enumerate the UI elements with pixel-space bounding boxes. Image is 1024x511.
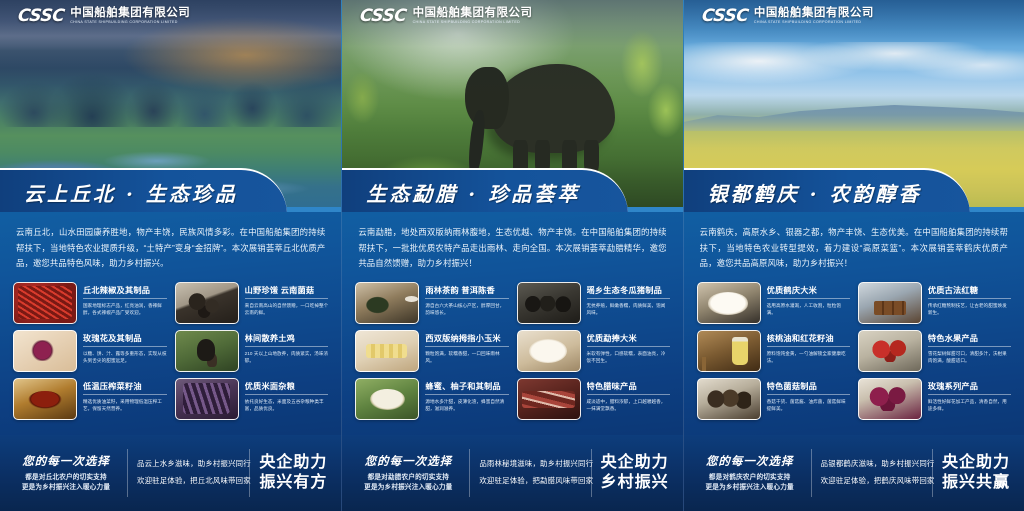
product-title: 林间散养土鸡 xyxy=(245,332,329,348)
card-grid-qiubei: 丘北辣椒及其制品 国家地理标志产品，红亮油润，香辣鲜醇，各式辣椒产品广受欢迎。 … xyxy=(0,280,341,420)
cssc-logo-text: 中国船舶集团有限公司 CHINA STATE SHIPBUILDING CORP… xyxy=(413,8,533,24)
banner-qiubei: 云上丘北 · 生态珍品 xyxy=(0,168,287,212)
footer-sub-line-2: 更是为乡村振兴注入暖心力量 xyxy=(698,483,802,493)
card-body: 西双版纳拇指小玉米 颗粒饱满，软糯香甜，一口回味雨林风。 xyxy=(425,330,508,365)
rose-image xyxy=(13,330,77,372)
card-body: 特色水果产品 雪花梨树鲜甜可口，清甜多汁，沃柑果肉饱满，酸甜适口。 xyxy=(928,330,1011,365)
puer-tea-image xyxy=(355,282,419,324)
cssc-logo: CSSC 中国船舶集团有限公司 CHINA STATE SHIPBUILDING… xyxy=(702,8,874,25)
card-row: 丘北辣椒及其制品 国家地理标志产品，红亮油润，香辣鲜醇，各式辣椒产品广受欢迎。 … xyxy=(13,282,328,324)
product-desc: 米软有弹性，口感软糯，表面油亮，冷饭不回生。 xyxy=(587,350,670,365)
product-card[interactable]: 优质古法红糖 传承红糖熬制技艺，让古老的甜蜜焕发新生。 xyxy=(858,282,1011,324)
mushroom-image xyxy=(175,282,239,324)
fruit-image xyxy=(858,330,922,372)
product-title: 特色菌菇制品 xyxy=(767,380,850,396)
product-title: 特色水果产品 xyxy=(928,332,1011,348)
product-desc: 原料饱饨金黄，一勺油解锁全家健康吃法。 xyxy=(767,350,850,365)
card-body: 优质古法红糖 传承红糖熬制技艺，让古老的甜蜜焕发新生。 xyxy=(928,282,1011,317)
card-body: 优质鹤庆大米 选用高原水灌溉，人工收割，粒粒饱满。 xyxy=(767,282,850,317)
card-body: 瑶乡生态冬瓜猪制品 无抗养殖，鲜嫩香糯，肉质鲜美，饱闻风味。 xyxy=(587,282,670,317)
hero-heqing: CSSC 中国船舶集团有限公司 CHINA STATE SHIPBUILDING… xyxy=(684,0,1024,212)
product-title: 优质古法红糖 xyxy=(928,284,1011,300)
card-body: 玫瑰系列产品 鲜活性好鲜花加工产品，清香自然，用途多样。 xyxy=(928,378,1011,413)
card-body: 低温压榨菜籽油 精选优质油菜籽，采用物理低温压榨工艺，保留天然营养。 xyxy=(83,378,167,413)
product-card[interactable]: 优质鹤庆大米 选用高原水灌溉，人工收割，粒粒饱满。 xyxy=(697,282,850,324)
product-card[interactable]: 雨林茶韵 普洱陈香 源自古六大茶山核心产区，醇厚回甘，韵味悠长。 xyxy=(355,282,508,324)
hero-mengla: CSSC 中国船舶集团有限公司 CHINA STATE SHIPBUILDING… xyxy=(342,0,682,212)
footer-line-1: 品银都鹤庆滋味，助乡村振兴同行 xyxy=(821,456,923,473)
footer-sub-line-1: 都是对勐腊农户的切实支持 xyxy=(356,473,460,483)
card-body: 特色腊味产品 咸淡适中，腊料浓郁，上口越嚼越香，一抹满堂飘香。 xyxy=(587,378,670,413)
card-body: 优质米面杂粮 依托良好生态，米面及五谷杂粮种类丰富，品质优良。 xyxy=(245,378,329,413)
footer-script-text: 您的每一次选择 xyxy=(14,453,118,469)
rice-image xyxy=(517,330,581,372)
product-card[interactable]: 优质勐捧大米 米软有弹性，口感软糯，表面油亮，冷饭不回生。 xyxy=(517,330,670,372)
product-title: 雨林茶韵 普洱陈香 xyxy=(425,284,508,300)
product-card[interactable]: 玫瑰花及其制品 以糖、饼、汁、露等多重形态，实现从枝头到舌尖的甜蜜远足。 xyxy=(13,330,167,372)
product-desc: 雪花梨树鲜甜可口，清甜多汁，沃柑果肉饱满，酸甜适口。 xyxy=(928,350,1011,365)
walnut-oil-image xyxy=(697,330,761,372)
panel-heqing: CSSC 中国船舶集团有限公司 CHINA STATE SHIPBUILDING… xyxy=(683,0,1024,511)
card-row: 西双版纳拇指小玉米 颗粒饱满，软糯香甜，一口回味雨林风。 优质勐捧大米 米软有弹… xyxy=(355,330,669,372)
cssc-logo: CSSC 中国船舶集团有限公司 CHINA STATE SHIPBUILDING… xyxy=(360,8,532,25)
cssc-logo: CSSC 中国船舶集团有限公司 CHINA STATE SHIPBUILDING… xyxy=(18,8,190,25)
footer-pledge: 您的每一次选择 都是对鹤庆农户的切实支持 更是为乡村振兴注入暖心力量 xyxy=(698,453,802,493)
product-card[interactable]: 蜂蜜、柚子和其制品 源地水多汁甜，皮薄化渣，蜂蜜自然清甜，滋润滋养。 xyxy=(355,378,508,420)
heqing-rice-image xyxy=(697,282,761,324)
company-name-cn: 中国船舶集团有限公司 xyxy=(413,8,533,20)
card-grid-mengla: 雨林茶韵 普洱陈香 源自古六大茶山核心产区，醇厚回甘，韵味悠长。 瑶乡生态冬瓜猪… xyxy=(342,280,682,420)
baby-corn-image xyxy=(355,330,419,372)
card-row: 核桃油和红花籽油 原料饱饨金黄，一勺油解锁全家健康吃法。 特色水果产品 雪花梨树… xyxy=(697,330,1011,372)
cssc-logo-text: 中国船舶集团有限公司 CHINA STATE SHIPBUILDING CORP… xyxy=(754,8,874,24)
card-body: 雨林茶韵 普洱陈香 源自古六大茶山核心产区，醇厚回甘，韵味悠长。 xyxy=(425,282,508,317)
banner-heqing: 银都鹤庆 · 农韵醇香 xyxy=(684,168,970,212)
card-body: 林间散养土鸡 210 天以上山地放养，肉质紧实，汤味浓郁。 xyxy=(245,330,329,365)
cssc-wordmark-icon: CSSC xyxy=(359,8,407,25)
product-card[interactable]: 西双版纳拇指小玉米 颗粒饱满，软糯香甜，一口回味雨林风。 xyxy=(355,330,508,372)
product-desc: 无抗养殖，鲜嫩香糯，肉质鲜美，饱闻风味。 xyxy=(587,302,670,317)
product-title: 特色腊味产品 xyxy=(587,380,670,396)
product-card[interactable]: 丘北辣椒及其制品 国家地理标志产品，红亮油润，香辣鲜醇，各式辣椒产品广受欢迎。 xyxy=(13,282,167,324)
cssc-wordmark-icon: CSSC xyxy=(17,8,65,25)
product-desc: 香菇干货、菌菇酱、油炸菌，菌菇鲜味提鲜美。 xyxy=(767,398,850,413)
footer-divider xyxy=(932,449,933,497)
product-title: 蜂蜜、柚子和其制品 xyxy=(425,380,508,396)
card-body: 山野珍馐 云南菌菇 来自云南高山的自然馈赠，一口吃掉整个云南的鲜。 xyxy=(245,282,329,317)
footer-sub-line-1: 都是对丘北农户的切实支持 xyxy=(14,473,118,483)
banner-title: 银都鹤庆 · 农韵醇香 xyxy=(684,178,922,207)
chicken-image xyxy=(175,330,239,372)
product-title: 西双版纳拇指小玉米 xyxy=(425,332,508,348)
product-desc: 源自古六大茶山核心产区，醇厚回甘，韵味悠长。 xyxy=(425,302,508,317)
cssc-wordmark-icon: CSSC xyxy=(701,8,749,25)
footer-script-text: 您的每一次选择 xyxy=(698,453,802,469)
fungus-image xyxy=(697,378,761,420)
card-grid-heqing: 优质鹤庆大米 选用高原水灌溉，人工收割，粒粒饱满。 优质古法红糖 传承红糖熬制技… xyxy=(684,280,1024,420)
product-desc: 咸淡适中，腊料浓郁，上口越嚼越香，一抹满堂飘香。 xyxy=(587,398,670,413)
footer-slogan: 央企助力 乡村振兴 xyxy=(601,453,669,493)
card-body: 核桃油和红花籽油 原料饱饨金黄，一勺油解锁全家健康吃法。 xyxy=(767,330,850,365)
footer-invite: 品银都鹤庆滋味，助乡村振兴同行 欢迎驻足体验，把鹤庆风味带回家 xyxy=(821,456,923,489)
product-title: 核桃油和红花籽油 xyxy=(767,332,850,348)
footer-line-1: 品雨林秘境滋味，助乡村振兴同行 xyxy=(479,456,581,473)
footer-sub-line-1: 都是对鹤庆农户的切实支持 xyxy=(698,473,802,483)
slogan-line-1: 央企助力 xyxy=(942,453,1010,473)
product-desc: 国家地理标志产品，红亮油润，香辣鲜醇，各式辣椒产品广受欢迎。 xyxy=(83,302,167,317)
company-name-en: CHINA STATE SHIPBUILDING CORPORATION LIM… xyxy=(754,21,874,25)
poster-stage: CSSC 中国船舶集团有限公司 CHINA STATE SHIPBUILDING… xyxy=(0,0,1024,511)
card-row: 特色菌菇制品 香菇干货、菌菇酱、油炸菌，菌菇鲜味提鲜美。 玫瑰系列产品 鲜活性好… xyxy=(697,378,1011,420)
product-desc: 以糖、饼、汁、露等多重形态，实现从枝头到舌尖的甜蜜远足。 xyxy=(83,350,167,365)
hero-qiubei: CSSC 中国船舶集团有限公司 CHINA STATE SHIPBUILDING… xyxy=(0,0,341,212)
product-card[interactable]: 优质米面杂粮 依托良好生态，米面及五谷杂粮种类丰富，品质优良。 xyxy=(175,378,329,420)
company-name-en: CHINA STATE SHIPBUILDING CORPORATION LIM… xyxy=(70,21,190,25)
footer-mengla: 您的每一次选择 都是对勐腊农户的切实支持 更是为乡村振兴注入暖心力量 品雨林秘境… xyxy=(342,435,682,511)
footer-line-2: 欢迎驻足体验，把勐腊风味带回家 xyxy=(479,473,581,490)
product-title: 山野珍馐 云南菌菇 xyxy=(245,284,329,300)
footer-script-text: 您的每一次选择 xyxy=(356,453,460,469)
panel-mengla: CSSC 中国船舶集团有限公司 CHINA STATE SHIPBUILDING… xyxy=(341,0,682,511)
card-body: 特色菌菇制品 香菇干货、菌菇酱、油炸菌，菌菇鲜味提鲜美。 xyxy=(767,378,850,413)
intro-text-qiubei: 云南丘北，山水田园康养胜地，物产丰饶，民族风情多彩。在中国船舶集团的持续帮扶下，… xyxy=(0,212,341,280)
card-row: 蜂蜜、柚子和其制品 源地水多汁甜，皮薄化渣，蜂蜜自然清甜，滋润滋养。 特色腊味产… xyxy=(355,378,669,420)
footer-divider xyxy=(249,449,250,497)
card-row: 低温压榨菜籽油 精选优质油菜籽，采用物理低温压榨工艺，保留天然营养。 优质米面杂… xyxy=(13,378,328,420)
product-desc: 来自云南高山的自然馈赠，一口吃掉整个云南的鲜。 xyxy=(245,302,329,317)
footer-qiubei: 您的每一次选择 都是对丘北农户的切实支持 更是为乡村振兴注入暖心力量 品云上水乡… xyxy=(0,435,341,511)
product-title: 优质勐捧大米 xyxy=(587,332,670,348)
panel-qiubei: CSSC 中国船舶集团有限公司 CHINA STATE SHIPBUILDING… xyxy=(0,0,341,511)
footer-invite: 品雨林秘境滋味，助乡村振兴同行 欢迎驻足体验，把勐腊风味带回家 xyxy=(479,456,581,489)
card-body: 丘北辣椒及其制品 国家地理标志产品，红亮油润，香辣鲜醇，各式辣椒产品广受欢迎。 xyxy=(83,282,167,317)
cured-meat-image xyxy=(517,378,581,420)
product-desc: 依托良好生态，米面及五谷杂粮种类丰富，品质优良。 xyxy=(245,398,329,413)
product-card[interactable]: 特色水果产品 雪花梨树鲜甜可口，清甜多汁，沃柑果肉饱满，酸甜适口。 xyxy=(858,330,1011,372)
product-card[interactable]: 瑶乡生态冬瓜猪制品 无抗养殖，鲜嫩香糯，肉质鲜美，饱闻风味。 xyxy=(517,282,670,324)
cssc-logo-text: 中国船舶集团有限公司 CHINA STATE SHIPBUILDING CORP… xyxy=(70,8,190,24)
banner-mengla: 生态勐腊 · 珍品荟萃 xyxy=(342,168,628,212)
card-body: 优质勐捧大米 米软有弹性，口感软糯，表面油亮，冷饭不回生。 xyxy=(587,330,670,365)
card-row: 优质鹤庆大米 选用高原水灌溉，人工收割，粒粒饱满。 优质古法红糖 传承红糖熬制技… xyxy=(697,282,1011,324)
product-card[interactable]: 玫瑰系列产品 鲜活性好鲜花加工产品，清香自然，用途多样。 xyxy=(858,378,1011,420)
footer-slogan: 央企助力 振兴有方 xyxy=(259,453,327,493)
company-name-cn: 中国船舶集团有限公司 xyxy=(70,8,190,20)
product-desc: 颗粒饱满，软糯香甜，一口回味雨林风。 xyxy=(425,350,508,365)
product-title: 玫瑰系列产品 xyxy=(928,380,1011,396)
product-title: 低温压榨菜籽油 xyxy=(83,380,167,396)
footer-divider xyxy=(469,449,470,497)
footer-pledge: 您的每一次选择 都是对丘北农户的切实支持 更是为乡村振兴注入暖心力量 xyxy=(14,453,118,493)
card-body: 蜂蜜、柚子和其制品 源地水多汁甜，皮薄化渣，蜂蜜自然清甜，滋润滋养。 xyxy=(425,378,508,413)
product-title: 优质鹤庆大米 xyxy=(767,284,850,300)
product-card[interactable]: 核桃油和红花籽油 原料饱饨金黄，一勺油解锁全家健康吃法。 xyxy=(697,330,850,372)
footer-sub-line-2: 更是为乡村振兴注入暖心力量 xyxy=(14,483,118,493)
chili-image xyxy=(13,282,77,324)
grain-image xyxy=(175,378,239,420)
card-row: 玫瑰花及其制品 以糖、饼、汁、露等多重形态，实现从枝头到舌尖的甜蜜远足。 林间散… xyxy=(13,330,328,372)
product-desc: 精选优质油菜籽，采用物理低温压榨工艺，保留天然营养。 xyxy=(83,398,167,413)
footer-divider xyxy=(127,449,128,497)
pork-image xyxy=(517,282,581,324)
honey-pomelo-image xyxy=(355,378,419,420)
footer-heqing: 您的每一次选择 都是对鹤庆农户的切实支持 更是为乡村振兴注入暖心力量 品银都鹤庆… xyxy=(684,435,1024,511)
slogan-line-2: 振兴有方 xyxy=(259,473,327,493)
product-card[interactable]: 山野珍馐 云南菌菇 来自云南高山的自然馈赠，一口吃掉整个云南的鲜。 xyxy=(175,282,329,324)
rapeseed-oil-image xyxy=(13,378,77,420)
product-desc: 传承红糖熬制技艺，让古老的甜蜜焕发新生。 xyxy=(928,302,1011,317)
product-card[interactable]: 特色菌菇制品 香菇干货、菌菇酱、油炸菌，菌菇鲜味提鲜美。 xyxy=(697,378,850,420)
card-row: 雨林茶韵 普洱陈香 源自古六大茶山核心产区，醇厚回甘，韵味悠长。 瑶乡生态冬瓜猪… xyxy=(355,282,669,324)
slogan-line-1: 央企助力 xyxy=(259,453,327,473)
banner-title: 云上丘北 · 生态珍品 xyxy=(0,178,238,207)
rose-product-image xyxy=(858,378,922,420)
product-desc: 源地水多汁甜，皮薄化渣，蜂蜜自然清甜，滋润滋养。 xyxy=(425,398,508,413)
product-desc: 鲜活性好鲜花加工产品，清香自然，用途多样。 xyxy=(928,398,1011,413)
card-body: 玫瑰花及其制品 以糖、饼、汁、露等多重形态，实现从枝头到舌尖的甜蜜远足。 xyxy=(83,330,167,365)
product-title: 丘北辣椒及其制品 xyxy=(83,284,167,300)
product-card[interactable]: 林间散养土鸡 210 天以上山地放养，肉质紧实，汤味浓郁。 xyxy=(175,330,329,372)
slogan-line-2: 乡村振兴 xyxy=(601,473,669,493)
footer-line-2: 欢迎驻足体验，把丘北风味带回家 xyxy=(137,473,240,490)
intro-text-heqing: 云南鹤庆，高原水乡、银器之都，物产丰饶、生态优美。在中国船舶集团的持续帮扶下，当… xyxy=(684,212,1024,280)
product-title: 优质米面杂粮 xyxy=(245,380,329,396)
footer-line-2: 欢迎驻足体验，把鹤庆风味带回家 xyxy=(821,473,923,490)
product-card[interactable]: 低温压榨菜籽油 精选优质油菜籽，采用物理低温压榨工艺，保留天然营养。 xyxy=(13,378,167,420)
product-title: 玫瑰花及其制品 xyxy=(83,332,167,348)
footer-line-1: 品云上水乡滋味，助乡村振兴同行 xyxy=(137,456,240,473)
company-name-en: CHINA STATE SHIPBUILDING CORPORATION LIM… xyxy=(413,21,533,25)
banner-title: 生态勐腊 · 珍品荟萃 xyxy=(342,178,580,207)
footer-sub-line-2: 更是为乡村振兴注入暖心力量 xyxy=(356,483,460,493)
slogan-line-1: 央企助力 xyxy=(601,453,669,473)
company-name-cn: 中国船舶集团有限公司 xyxy=(754,8,874,20)
footer-pledge: 您的每一次选择 都是对勐腊农户的切实支持 更是为乡村振兴注入暖心力量 xyxy=(356,453,460,493)
footer-slogan: 央企助力 振兴共赢 xyxy=(942,453,1010,493)
product-title: 瑶乡生态冬瓜猪制品 xyxy=(587,284,670,300)
brown-sugar-image xyxy=(858,282,922,324)
intro-text-mengla: 云南勐腊，地处西双版纳雨林腹地，生态优越、物产丰饶。在中国船舶集团的持续帮扶下，… xyxy=(342,212,682,280)
footer-invite: 品云上水乡滋味，助乡村振兴同行 欢迎驻足体验，把丘北风味带回家 xyxy=(137,456,240,489)
footer-divider xyxy=(591,449,592,497)
slogan-line-2: 振兴共赢 xyxy=(942,473,1010,493)
product-desc: 210 天以上山地放养，肉质紧实，汤味浓郁。 xyxy=(245,350,329,365)
footer-divider xyxy=(811,449,812,497)
product-desc: 选用高原水灌溉，人工收割，粒粒饱满。 xyxy=(767,302,850,317)
product-card[interactable]: 特色腊味产品 咸淡适中，腊料浓郁，上口越嚼越香，一抹满堂飘香。 xyxy=(517,378,670,420)
